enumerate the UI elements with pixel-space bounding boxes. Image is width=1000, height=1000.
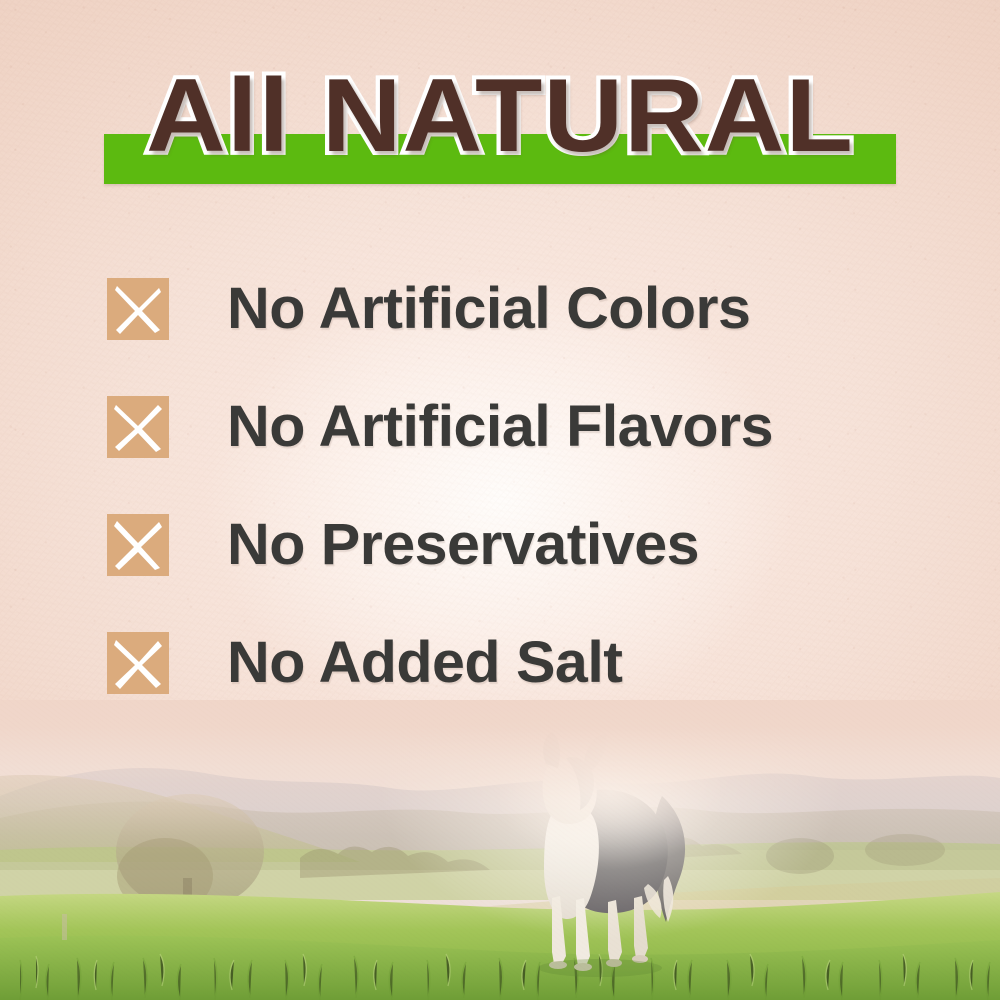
list-item-label: No Artificial Flavors: [227, 397, 773, 457]
x-mark-icon: [107, 396, 169, 458]
list-item-label: No Artificial Colors: [227, 279, 750, 339]
bush-right-b: [865, 834, 945, 866]
headline-block: All NATURAL: [0, 60, 1000, 200]
page-title: All NATURAL: [0, 60, 1000, 172]
list-item: No Artificial Colors: [0, 250, 1000, 368]
x-mark-icon: [107, 632, 169, 694]
list-item: No Artificial Flavors: [0, 368, 1000, 486]
all-natural-feature-panel: All NATURAL No Artificial Colors No Arti…: [0, 0, 1000, 1000]
landscape-photo: [0, 700, 1000, 1000]
dog-sun-fade: [500, 710, 720, 910]
list-item-label: No Added Salt: [227, 633, 622, 693]
x-mark-icon: [107, 278, 169, 340]
claims-list: No Artificial Colors No Artificial Flavo…: [0, 250, 1000, 722]
fence-post: [62, 914, 67, 940]
list-item-label: No Preservatives: [227, 515, 699, 575]
x-mark-icon: [107, 514, 169, 576]
bush-right-a: [766, 838, 834, 874]
list-item: No Preservatives: [0, 486, 1000, 604]
